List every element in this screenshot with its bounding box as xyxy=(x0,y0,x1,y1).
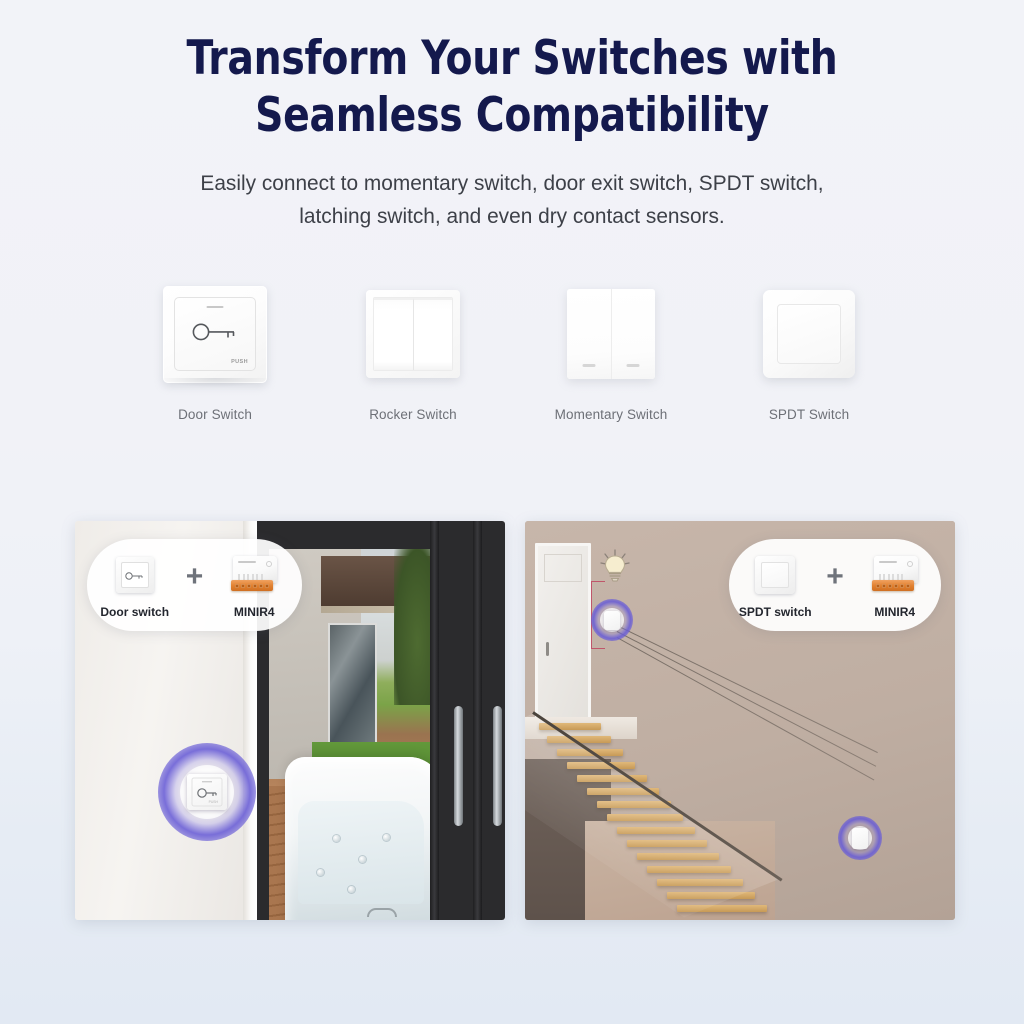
minir4-terminal-block xyxy=(872,580,914,591)
switch-label-spdt: SPDT Switch xyxy=(769,407,849,422)
minir4-brand-mark xyxy=(238,561,256,563)
subtitle-line-2: latching switch, and even dry contact se… xyxy=(15,200,1008,233)
callout-badge-spdt: SPDT switch + xyxy=(729,539,941,631)
minir4-body xyxy=(874,556,918,583)
callout-badge-door: Door switch + xyxy=(87,539,302,631)
minir4-module xyxy=(872,556,918,593)
scene-panel-spdt-switch: SPDT switch + xyxy=(525,521,955,920)
outdoor-window xyxy=(328,623,377,749)
lower-spdt-switch xyxy=(852,828,868,849)
minir4-pair-button xyxy=(266,561,272,567)
spdt-switch-thumb-plate xyxy=(755,556,795,594)
minir4-module xyxy=(231,556,277,593)
badge-device-minir4-left: MINIR4 xyxy=(215,552,293,619)
spdt-paddle xyxy=(777,304,841,364)
headline-line-2: Seamless Compatibility xyxy=(36,87,988,144)
badge-device-spdt-switch: SPDT switch xyxy=(736,552,814,619)
rocker-paddle-left xyxy=(374,298,413,370)
spdt-switch-thumb-paddle xyxy=(761,562,789,588)
door-switch-plate: PUSH xyxy=(163,286,267,383)
rocker-switch-plate xyxy=(366,290,460,378)
switch-card-rocker: Rocker Switch xyxy=(347,278,479,422)
momentary-paddle-right xyxy=(611,289,656,379)
jacuzzi-jet xyxy=(383,834,390,841)
badge-device-door-switch: Door switch xyxy=(96,552,174,619)
switch-label-door: Door Switch xyxy=(178,407,252,422)
minir4-thumb-left xyxy=(231,552,277,598)
upstairs-door xyxy=(535,543,591,721)
svg-text:PUSH: PUSH xyxy=(209,800,219,804)
switch-label-momentary: Momentary Switch xyxy=(555,407,668,422)
minir4-terminal-block xyxy=(231,580,273,591)
jacuzzi-jet xyxy=(333,835,340,842)
door-switch-image: PUSH xyxy=(149,278,281,390)
badge-label-spdt-switch: SPDT switch xyxy=(739,605,812,619)
upper-spdt-switch xyxy=(604,611,620,630)
jacuzzi-faucet xyxy=(367,908,397,917)
minir4-thumb-right xyxy=(872,552,918,598)
jacuzzi-jet xyxy=(348,886,355,893)
momentary-switch-plate xyxy=(567,289,655,379)
door-switch-highlight: PUSH xyxy=(158,743,256,841)
door-switch-thumb xyxy=(116,552,154,598)
badge-device-minir4-right: MINIR4 xyxy=(856,552,934,619)
spdt-switch-plate xyxy=(763,290,855,378)
spdt-switch-thumb xyxy=(755,552,795,598)
rocker-switch-image xyxy=(347,278,479,390)
minir4-body xyxy=(233,556,277,583)
jacuzzi-jet xyxy=(317,869,324,876)
badge-label-door-switch: Door switch xyxy=(100,605,169,619)
door-mullion xyxy=(430,521,439,920)
minir4-brand-mark xyxy=(879,561,897,563)
door-switch-thumb-button xyxy=(121,562,149,588)
rocker-switch-inner xyxy=(373,297,453,371)
minir4-pair-button xyxy=(907,561,913,567)
switch-card-door: PUSH Door Switch xyxy=(149,278,281,422)
key-icon xyxy=(192,323,238,346)
momentary-switch-image xyxy=(545,278,677,390)
switch-card-spdt: SPDT Switch xyxy=(743,278,875,422)
spdt-switch-image xyxy=(743,278,875,390)
upper-switch-highlight xyxy=(591,599,633,641)
door-switch-thumb-plate xyxy=(116,557,154,593)
scene-panels: PUSH xyxy=(75,521,955,920)
plus-icon: + xyxy=(186,562,204,592)
door-handle xyxy=(493,706,502,826)
hero-section: Transform Your Switches with Seamless Co… xyxy=(0,0,1024,232)
door-switch-slot xyxy=(207,306,224,308)
door-switch-button: PUSH xyxy=(174,297,256,371)
wall-door-switch: PUSH xyxy=(187,774,227,810)
badge-label-minir4-left: MINIR4 xyxy=(234,605,275,619)
page-title: Transform Your Switches with Seamless Co… xyxy=(36,30,988,145)
door-mullion xyxy=(473,521,482,920)
door-switch-push-label: PUSH xyxy=(231,359,248,365)
door-handle xyxy=(454,706,463,826)
jacuzzi-jet xyxy=(359,856,366,863)
door-knob xyxy=(546,642,549,656)
momentary-indicator-left xyxy=(582,364,595,367)
switch-label-rocker: Rocker Switch xyxy=(369,407,457,422)
headline-line-1: Transform Your Switches with xyxy=(36,30,988,87)
page-subtitle: Easily connect to momentary switch, door… xyxy=(15,167,1008,233)
switch-gallery: PUSH Door Switch Rocker Switch xyxy=(0,278,1024,422)
badge-label-minir4-right: MINIR4 xyxy=(874,605,915,619)
switch-card-momentary: Momentary Switch xyxy=(545,278,677,422)
jacuzzi-tub xyxy=(285,757,433,920)
lower-switch-highlight xyxy=(838,816,882,860)
subtitle-line-1: Easily connect to momentary switch, door… xyxy=(15,167,1008,200)
rocker-paddle-right xyxy=(413,298,453,370)
plus-icon: + xyxy=(826,562,844,592)
momentary-indicator-right xyxy=(627,364,640,367)
scene-panel-door-switch: PUSH xyxy=(75,521,505,920)
momentary-paddle-left xyxy=(567,289,611,379)
outdoor-trees xyxy=(394,549,433,705)
